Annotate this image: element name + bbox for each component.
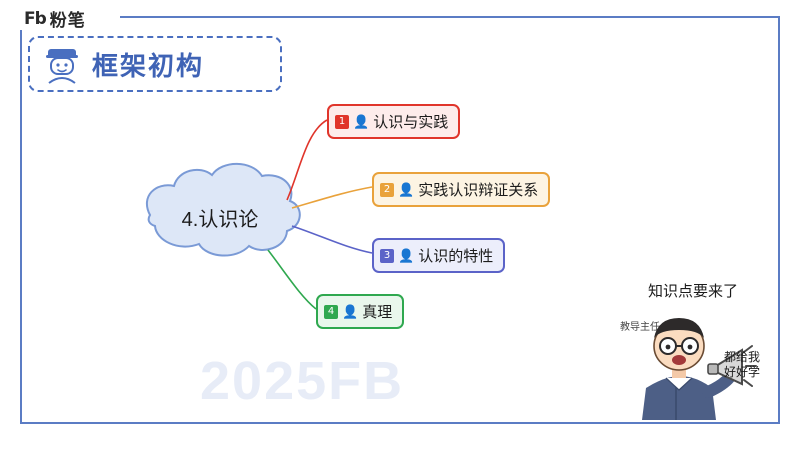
node-index-2: 2: [380, 183, 394, 197]
teacher-illustration: 知识点要来了 教导主任: [620, 280, 790, 420]
node-label-4: 真理: [362, 301, 392, 322]
mindmap-root-label: 4.认识论: [150, 203, 290, 232]
slide-canvas: Fb 粉笔 2025FB 框架初构 4.认识论 1 👤 认识与实践: [0, 0, 800, 450]
node-index-1: 1: [335, 115, 349, 129]
student-avatar-icon: [44, 46, 80, 84]
frame-bottom-rule: [20, 422, 780, 424]
frame-right-rule: [778, 16, 780, 424]
connector-1: [287, 120, 327, 200]
person-icon: 👤: [398, 249, 414, 262]
mindmap-node-2[interactable]: 2 👤 实践认识辩证关系: [372, 172, 550, 207]
node-label-3: 认识的特性: [418, 245, 493, 266]
person-icon: 👤: [398, 183, 414, 196]
mindmap-node-3[interactable]: 3 👤 认识的特性: [372, 238, 505, 273]
teacher-speech-line1: 都给我: [724, 350, 760, 365]
person-icon: 👤: [353, 115, 369, 128]
connector-2: [292, 187, 372, 208]
node-label-2: 实践认识辩证关系: [418, 179, 538, 200]
teacher-speech-line2: 好好学: [724, 365, 760, 380]
node-index-4: 4: [324, 305, 338, 319]
node-index-3: 3: [380, 249, 394, 263]
teacher-speech-bubble: 都给我 好好学: [724, 350, 760, 380]
person-icon: 👤: [342, 305, 358, 318]
brand-name: 粉笔: [50, 6, 86, 31]
section-title-card: 框架初构: [28, 36, 282, 92]
brand-logo: Fb 粉笔: [24, 6, 86, 31]
frame-left-rule: [20, 30, 22, 424]
connector-3: [292, 226, 372, 253]
section-title-text: 框架初构: [92, 46, 204, 83]
brand-mark-icon: Fb: [24, 9, 46, 29]
mindmap-node-1[interactable]: 1 👤 认识与实践: [327, 104, 460, 139]
connector-4: [268, 250, 316, 309]
node-label-1: 认识与实践: [373, 111, 448, 132]
frame-top-rule: [120, 16, 780, 18]
teacher-figure: [620, 280, 790, 420]
mindmap-node-4[interactable]: 4 👤 真理: [316, 294, 404, 329]
